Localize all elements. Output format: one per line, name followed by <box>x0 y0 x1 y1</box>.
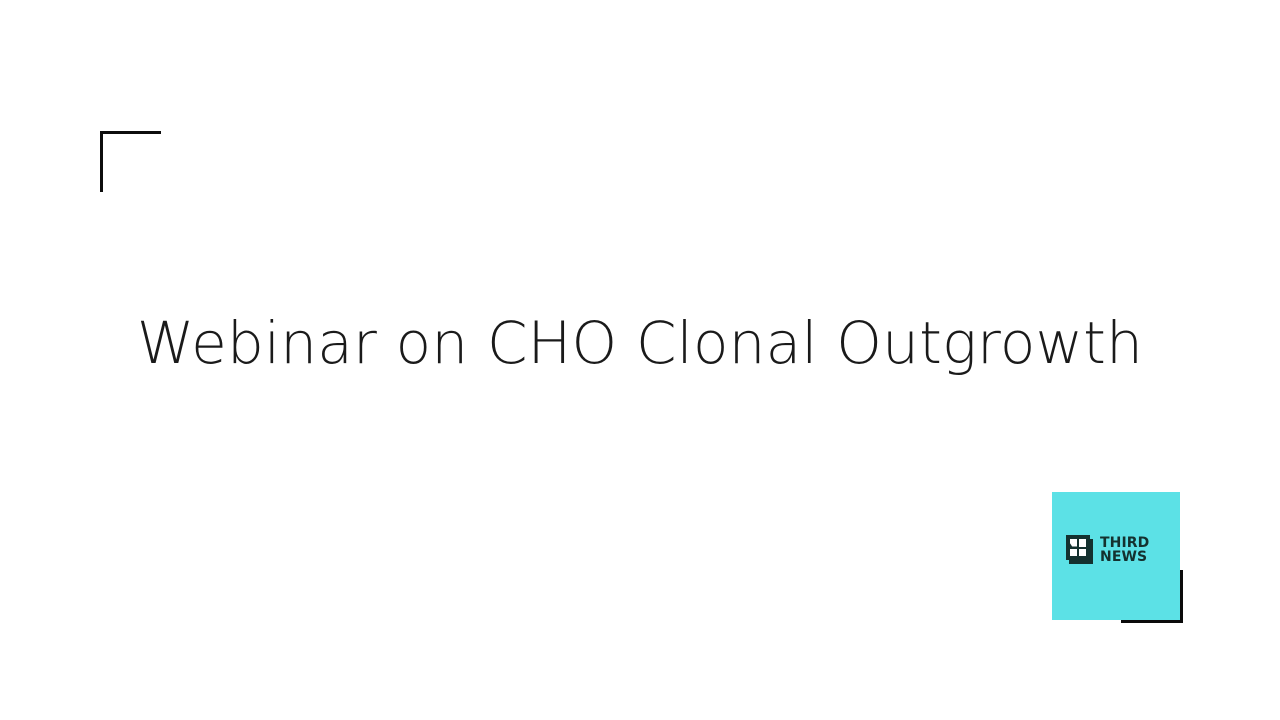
bracket-horizontal-line <box>100 131 161 134</box>
corner-bracket-decoration <box>100 131 161 192</box>
icon-pane-bottom-right <box>1079 549 1086 557</box>
logo-wordmark: THIRD NEWS <box>1100 536 1149 564</box>
brand-logo-block: THIRD NEWS <box>1052 492 1183 623</box>
logo-wordmark-line-2: NEWS <box>1100 550 1149 564</box>
logo-lockup: THIRD NEWS <box>1066 535 1149 564</box>
bracket-vertical-line <box>100 131 103 192</box>
icon-pane-top-right <box>1079 539 1086 547</box>
icon-pane-grid <box>1070 539 1086 556</box>
logo-wordmark-line-1: THIRD <box>1100 536 1149 550</box>
icon-pane-bottom-left <box>1070 549 1077 557</box>
slide-title: Webinar on CHO Clonal Outgrowth <box>0 300 1280 386</box>
newspaper-window-icon <box>1066 535 1093 564</box>
title-slide: Webinar on CHO Clonal Outgrowth THIRD NE… <box>0 0 1280 720</box>
icon-pane-top-left <box>1070 539 1077 547</box>
